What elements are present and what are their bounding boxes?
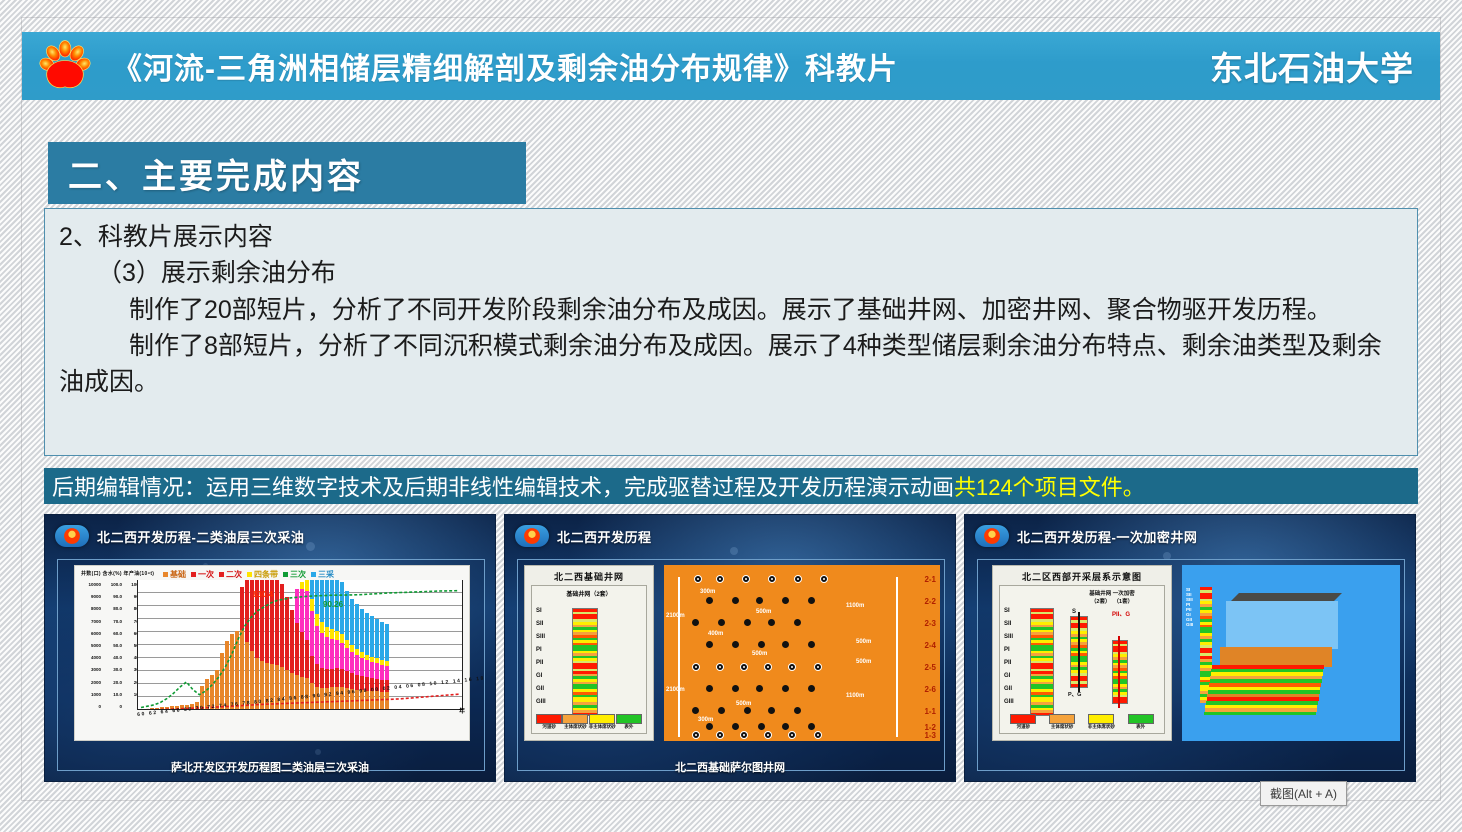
production-well-marker [744,707,751,714]
well-row-label: 2-6 [924,685,936,694]
layer-label: PII [536,660,543,666]
distance-label-500-e: 500m [856,659,871,665]
production-well-marker [756,685,763,692]
layer-label: SIII [536,634,545,640]
video-panel-3[interactable]: 北二西开发历程-一次加密井网 北二区西部开采层系示意图 基础井网 一次加密 （2… [964,514,1416,782]
distance-label-1100-b: 1100m [846,693,864,699]
injection-well-marker [740,663,748,671]
distance-label-500-b: 500m [752,651,767,657]
distance-label-2100-left: 2100m [666,613,685,619]
panel-1-header: 北二西开发历程-二类油层三次采油 [55,525,304,547]
panel-2-caption: 北二西基础萨尔图井网 [505,759,955,775]
log-card-title: 北二西基础井网 [525,566,653,583]
log-card-subtitle: 基础井网（2套） [532,586,646,598]
chart-legend: 基础 一次 二次 四条带 三次 三采 [163,569,334,580]
block-water-body [1226,601,1338,649]
production-well-marker [782,685,789,692]
production-well-marker [808,597,815,604]
layer-color-strip [1030,608,1054,716]
lithology-legend: 河道砂 主体席状砂 非主体席状砂 表外 [536,714,642,730]
section-title: 二、主要完成内容 [48,142,526,204]
video-panel-1[interactable]: 北二西开发历程-二类油层三次采油 井数(口) 含水(%) 年产油(10⁴t) 基… [44,514,496,782]
distance-label-300-a: 300m [700,589,715,595]
injection-well-marker [716,663,724,671]
layer-label: PI [536,647,542,653]
well-row-label: 1-1 [924,707,936,716]
distance-label-2100-left-2: 2100m [666,687,685,693]
production-well-marker [794,619,801,626]
development-history-chart: 井数(口) 含水(%) 年产油(10⁴t) 基础 一次 二次 四条带 三次 三采 [74,565,470,741]
bracket-pg [1118,636,1120,708]
cnpc-logo-icon [36,37,94,95]
injection-well-marker [692,663,700,671]
layer-label: SI [1004,608,1010,614]
panel-2-content: 北二西基础井网 基础井网（2套） SISIISIIIPIPIIGIGIIGIII… [517,559,945,771]
body-line-1: 2、科教片展示内容 [59,219,1403,255]
production-well-marker [808,685,815,692]
log-card-subtitle-row: 基础井网 一次加密 （2套） （1套） [1048,589,1176,605]
screenshot-button[interactable]: 截图(Alt + A) [1260,781,1347,806]
infill-strip-pg [1112,640,1128,704]
injection-well-marker [788,731,796,739]
log-card-body: 基础井网（2套） SISIISIIIPIPIIGIGIIGIII 河道砂 主体席… [531,585,647,734]
injection-well-marker [716,575,724,583]
panel-3-title: 北二西开发历程-一次加密井网 [1017,527,1197,546]
banner-highlight: 共124个项目文件。 [954,470,1145,502]
body-line-2: （3）展示剩余油分布 [59,255,1403,291]
production-well-marker [732,685,739,692]
distance-label-300-b: 300m [698,717,713,723]
injection-well-marker [814,731,822,739]
banner-text: 后期编辑情况：运用三维数字技术及后期非线性编辑技术，完成驱替过程及开发历程演示动… [52,470,954,502]
panel-1-content: 井数(口) 含水(%) 年产油(10⁴t) 基础 一次 二次 四条带 三次 三采 [57,559,485,771]
chart-annotation-1: 830.4 [253,590,273,599]
production-well-marker [706,723,713,730]
log-card-body: 基础井网 一次加密 （2套） （1套） S PII、G P、G SISIISII… [999,585,1165,734]
well-row-label: 1-3 [924,731,936,740]
injection-well-marker [788,663,796,671]
slide-header: 《河流-三角洲相储层精细解剖及剩余油分布规律》科教片 东北石油大学 [22,32,1440,100]
panel-logo-icon [55,525,89,547]
well-row-label: 2-4 [924,641,936,650]
distance-label-500-a: 500m [756,609,771,615]
injection-well-marker [694,575,702,583]
production-well-marker [744,619,751,626]
y-axis-1-ticks: 1000090008000700060005000400030002000100… [77,579,101,713]
panel-3-content: 北二区西部开采层系示意图 基础井网 一次加密 （2套） （1套） S PII、G… [977,559,1405,771]
layer-label: PII [1004,660,1011,666]
production-well-marker [718,619,725,626]
layer-label: GII [536,686,544,692]
panel-3-header: 北二西开发历程-一次加密井网 [975,525,1197,547]
lithology-legend: 河道砂 主体席状砂 非主体席状砂 表外 [1004,714,1160,730]
injection-well-marker [814,663,822,671]
panel-logo-icon [975,525,1009,547]
base-well-pattern-log-card: 北二西基础井网 基础井网（2套） SISIISIIIPIPIIGIGIIGIII… [524,565,654,741]
production-well-marker [706,685,713,692]
well-row-label: 2-3 [924,619,936,628]
layer-label: GIII [536,699,546,705]
slide-canvas: 《河流-三角洲相储层精细解剖及剩余油分布规律》科教片 东北石油大学 二、主要完成… [22,18,1440,800]
injection-well-marker [820,575,828,583]
distance-label-400-a: 400m [708,631,723,637]
injection-well-marker [742,575,750,583]
video-thumbnail-row: 北二西开发历程-二类油层三次采油 井数(口) 含水(%) 年产油(10⁴t) 基… [44,514,1418,782]
injection-well-marker [692,731,700,739]
panel-logo-icon [515,525,549,547]
production-well-marker [756,597,763,604]
production-well-marker [692,707,699,714]
injection-well-marker [716,731,724,739]
layer-color-strip [572,608,598,716]
column-label-s: S [1072,609,1076,615]
well-pattern-map: 2100m 2100m 300m 500m 400m 500m 500m 300… [664,565,940,741]
injection-well-marker [794,575,802,583]
layer-label: GII [1004,686,1012,692]
production-well-marker [768,707,775,714]
presentation-title: 《河流-三角洲相储层精细解剖及剩余油分布规律》科教片 [112,44,1210,88]
production-well-marker [758,723,765,730]
body-text-box: 2、科教片展示内容 （3）展示剩余油分布 制作了20部短片，分析了不同开发阶段剩… [44,208,1418,456]
layer-label: SII [536,621,543,627]
layer-label: SIII [1004,634,1013,640]
production-well-marker [706,597,713,604]
scale-bracket-left [678,577,680,737]
reservoir-3d-block: SISIISIIIPIPIIGIGIIGIII [1182,565,1400,741]
layer-label: GI [536,673,542,679]
well-row-label: 2-1 [924,575,936,584]
distance-label-500-c: 500m [736,701,751,707]
well-row-label: 2-5 [924,663,936,672]
x-axis-unit-label: 年 [459,706,465,715]
production-well-marker [732,723,739,730]
block-top-reservoir [1220,647,1332,667]
body-line-4: 制作了8部短片，分析了不同沉积模式剩余油分布及成因。展示了4种类型储层剩余油分布… [59,328,1403,401]
organization-name: 东北石油大学 [1210,42,1414,90]
production-well-marker [808,641,815,648]
production-well-marker [758,641,765,648]
layer-label: GI [1004,673,1010,679]
panel-1-caption: 萨北开发区开发历程图二类油层三次采油 [45,759,495,775]
production-well-marker [768,619,775,626]
video-panel-2[interactable]: 北二西开发历程 北二西基础井网 基础井网（2套） SISIISIIIPIPIIG… [504,514,956,782]
bracket-s [1078,612,1080,692]
chart-annotation-2: 90.26 [323,600,343,609]
chart-lines [138,580,463,710]
layer-label: GIII [1004,699,1014,705]
distance-label-1100-a: 1100m [846,603,864,609]
layer-label: SII [1004,621,1011,627]
scale-bracket-right [896,577,898,737]
production-well-marker [782,723,789,730]
chart-plot-area [137,580,463,710]
injection-well-marker [764,731,772,739]
production-well-marker [706,641,713,648]
block-layer [1204,712,1316,716]
panel-2-header: 北二西开发历程 [515,525,652,547]
panel-2-title: 北二西开发历程 [557,527,652,546]
infill-well-pattern-log-card: 北二区西部开采层系示意图 基础井网 一次加密 （2套） （1套） S PII、G… [992,565,1172,741]
production-well-marker [782,641,789,648]
panel-1-title: 北二西开发历程-二类油层三次采油 [97,527,304,546]
production-well-marker [732,641,739,648]
body-line-3: 制作了20部短片，分析了不同开发阶段剩余油分布及成因。展示了基础井网、加密井网、… [59,292,1403,328]
injection-well-marker [768,575,776,583]
production-well-marker [794,707,801,714]
production-well-marker [692,619,699,626]
distance-label-500-d: 500m [856,639,871,645]
column-label-pg: PII、G [1112,609,1130,618]
production-well-marker [732,597,739,604]
log-card-title: 北二区西部开采层系示意图 [993,566,1171,583]
production-well-marker [718,707,725,714]
block-layer-stack [1212,665,1324,715]
production-well-marker [808,723,815,730]
injection-well-marker [740,731,748,739]
chart-axis-captions: 井数(口) 含水(%) 年产油(10⁴t) [81,570,154,577]
production-well-marker [782,597,789,604]
y-axis-2-ticks: 100.090.080.070.060.050.040.030.020.010.… [100,579,122,713]
editing-status-banner: 后期编辑情况：运用三维数字技术及后期非线性编辑技术，完成驱替过程及开发历程演示动… [44,468,1418,504]
injection-well-marker [764,663,772,671]
well-row-label: 2-2 [924,597,936,606]
layer-label: PI [1004,647,1010,653]
layer-label: SI [536,608,542,614]
